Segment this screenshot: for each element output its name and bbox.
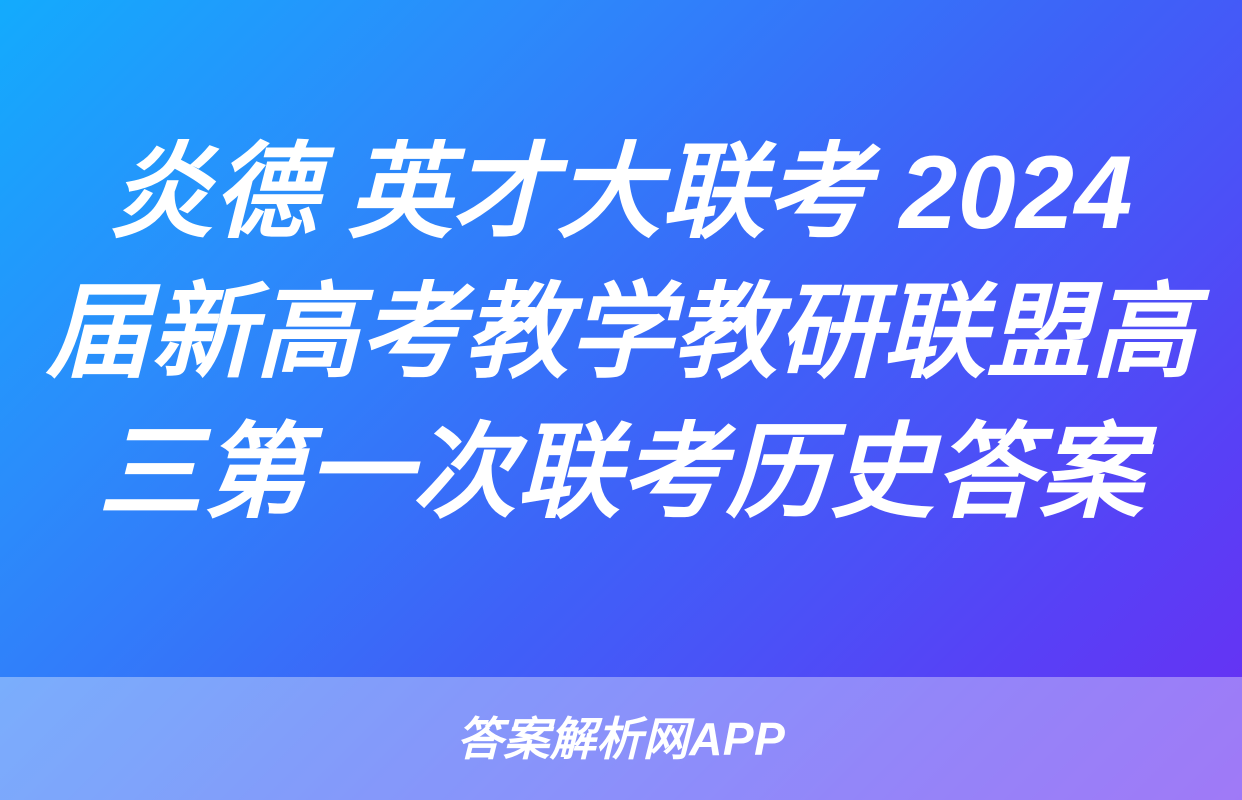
headline-line-1: 炎德 英才大联考 2024 bbox=[109, 123, 1133, 263]
headline-line-3: 三第一次联考历史答案 bbox=[98, 403, 1143, 543]
headline-block: 炎德 英才大联考 2024 届新高考教学教研联盟高 三第一次联考历史答案 bbox=[0, 0, 1242, 677]
answer-poster: 炎德 英才大联考 2024 届新高考教学教研联盟高 三第一次联考历史答案 答案解… bbox=[0, 0, 1242, 800]
watermark-band: 答案解析网APP bbox=[0, 677, 1242, 800]
watermark-app-label: 答案解析网APP bbox=[457, 713, 786, 765]
headline-line-2: 届新高考教学教研联盟高 bbox=[46, 263, 1196, 403]
